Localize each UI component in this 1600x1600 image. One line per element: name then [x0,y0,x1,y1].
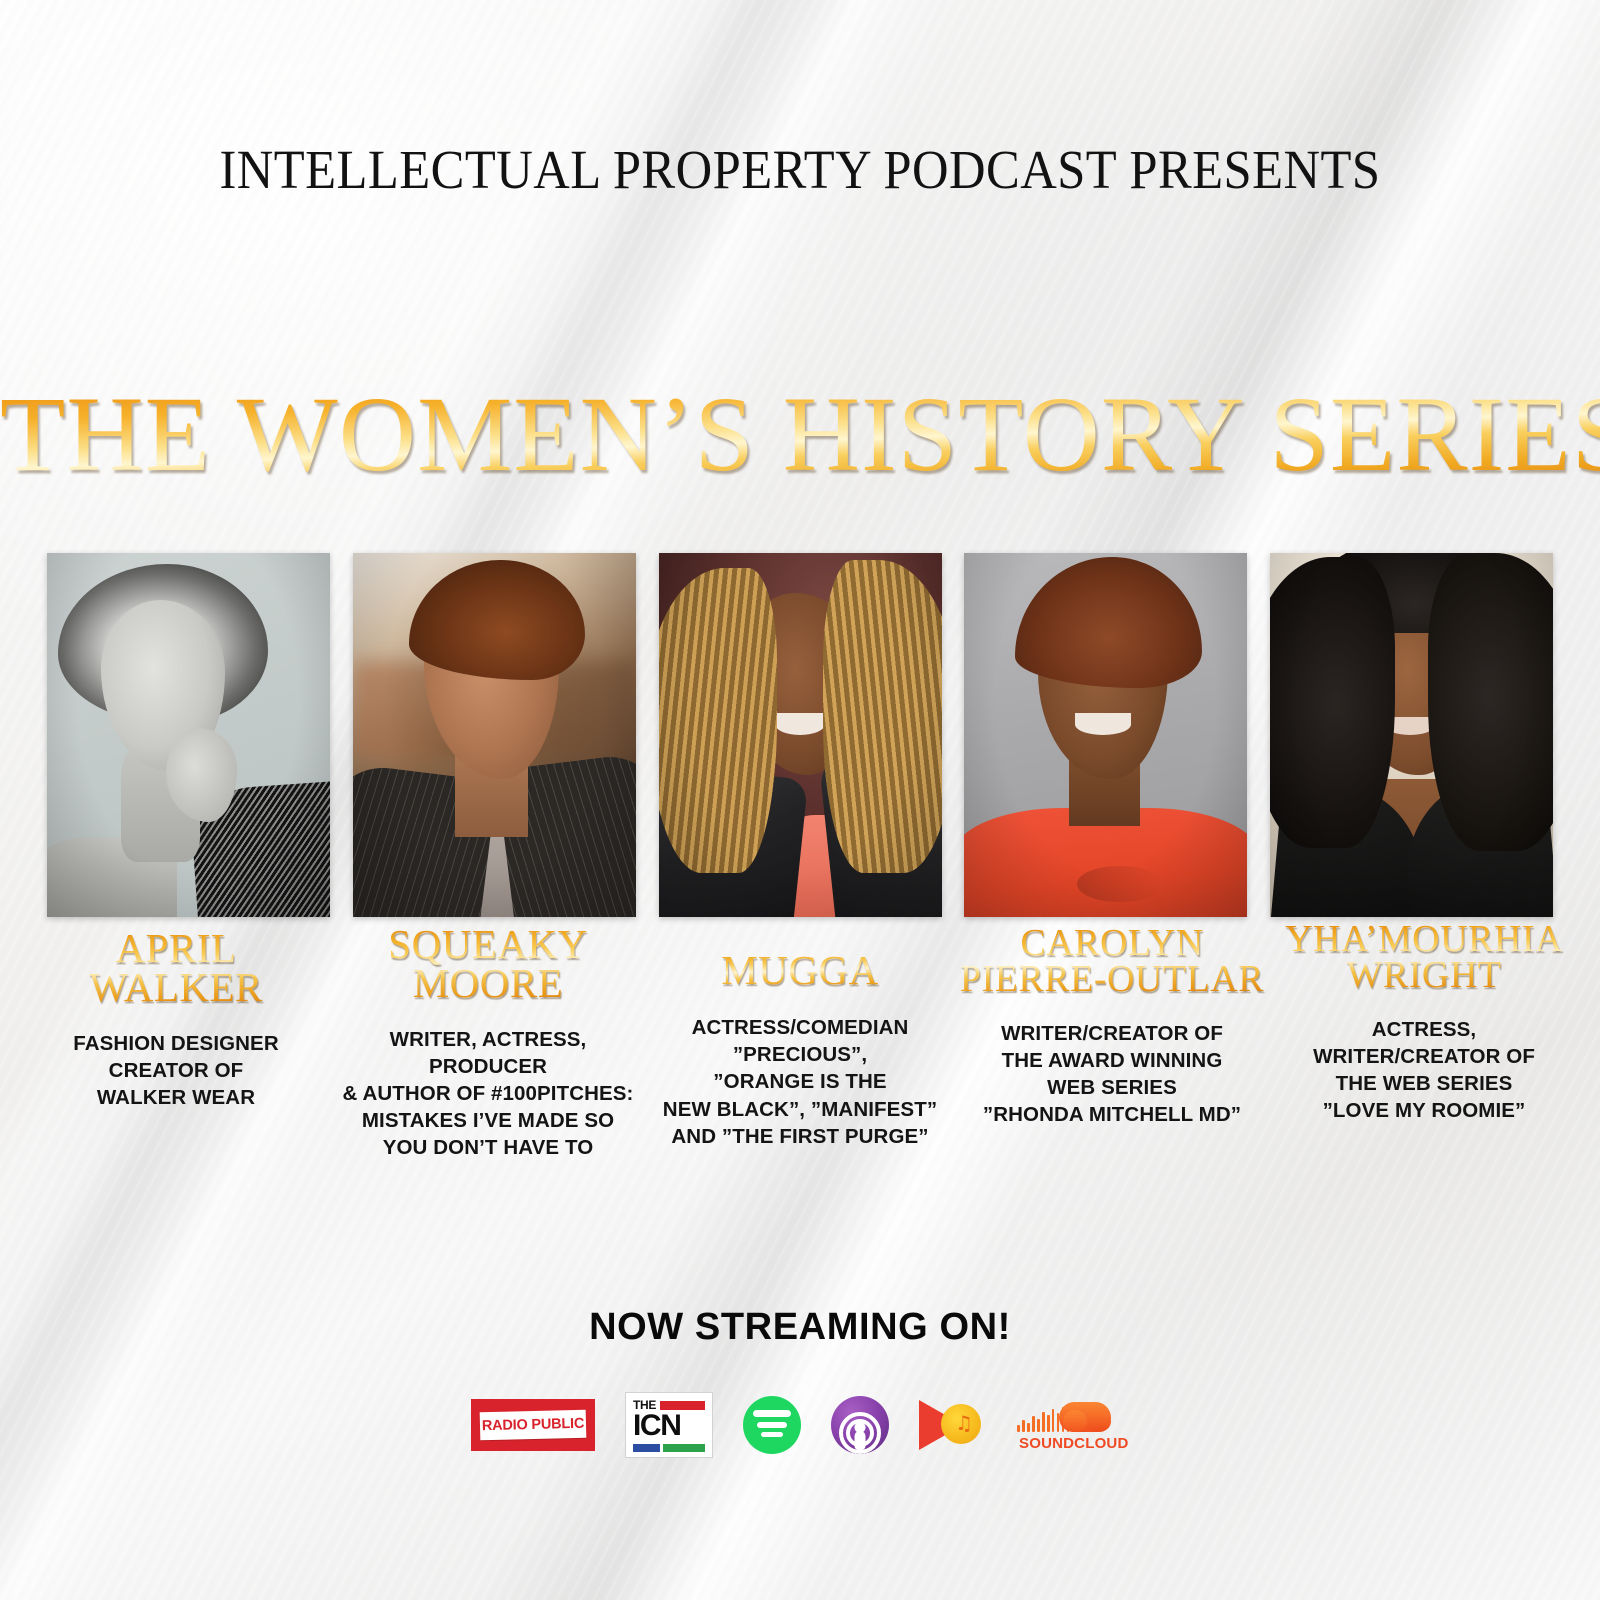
icn-wordmark: ICN [633,1412,705,1441]
spotify-wave-1 [753,1410,791,1417]
radiopublic-icon[interactable]: RADIO PUBLIC [471,1399,595,1451]
guest-bio: ACTRESS/COMEDIAN ”PRECIOUS”, ”ORANGE IS … [644,1014,956,1149]
now-streaming-label: NOW STREAMING ON! [0,1306,1600,1349]
guest-name: MUGGA [644,951,956,990]
icn-blue-bar [633,1444,660,1452]
guest-photo-carolyn-pierre-outlar [964,553,1247,917]
poster-canvas: INTELLECTUAL PROPERTY PODCAST PRESENTS T… [0,0,1600,1600]
icn-bottom-bars [633,1444,705,1452]
guest-photo-row [47,553,1553,917]
guest-credit-squeaky-moore: SQUEAKY MOORE WRITER, ACTRESS, PRODUCER … [332,925,644,1161]
music-note-icon: ♫ [955,1413,973,1433]
guest-photo-squeaky-moore [353,553,636,917]
radiopublic-label: RADIO PUBLIC [482,1416,585,1434]
guest-name: APRIL WALKER [20,929,332,1008]
guest-photo-mugga [659,553,942,917]
icn-icon[interactable]: THE ICN [625,1392,713,1458]
photo-vignette [47,553,330,917]
spotify-icon[interactable] [743,1396,801,1454]
page-title: THE WOMEN’S HISTORY SERIES [0,374,1600,497]
soundcloud-cloud [1059,1402,1111,1432]
guest-credit-yhamourhia-wright: YHA’MOURHIA WRIGHT ACTRESS, WRITER/CREAT… [1268,925,1580,1124]
guest-name: CAROLYN PIERRE-OUTLAR [956,925,1268,998]
guest-bio: WRITER/CREATOR OF THE AWARD WINNING WEB … [956,1020,1268,1128]
guest-photo-yhamourhia-wright [1270,553,1553,917]
guest-photo-april-walker [47,553,330,917]
guest-credit-mugga: MUGGA ACTRESS/COMEDIAN ”PRECIOUS”, ”ORAN… [644,925,956,1150]
google-play-music-icon[interactable]: ♫ [919,1396,981,1454]
page-kicker: INTELLECTUAL PROPERTY PODCAST PRESENTS [64,138,1536,201]
guest-credit-carolyn-pierre-outlar: CAROLYN PIERRE-OUTLAR WRITER/CREATOR OF … [956,925,1268,1128]
soundcloud-icon[interactable]: SOUNDCLOUD [1011,1394,1129,1456]
streaming-platform-logos: RADIO PUBLIC THE ICN [0,1392,1600,1458]
apple-mic-body [855,1431,866,1450]
apple-podcasts-icon[interactable] [831,1396,889,1454]
photo-vignette [964,553,1247,917]
photo-vignette [1270,553,1553,917]
radiopublic-banner: RADIO PUBLIC [480,1410,587,1441]
guest-name: YHA’MOURHIA WRIGHT [1268,921,1580,994]
spotify-wave-2 [757,1422,787,1428]
spotify-wave-3 [761,1432,783,1437]
icn-green-bar [663,1444,705,1452]
photo-vignette [353,553,636,917]
guest-bio: ACTRESS, WRITER/CREATOR OF THE WEB SERIE… [1268,1016,1580,1124]
soundcloud-label: SOUNDCLOUD [1019,1435,1123,1452]
guest-bio: WRITER, ACTRESS, PRODUCER & AUTHOR OF #1… [332,1026,644,1161]
guest-bio: FASHION DESIGNER CREATOR OF WALKER WEAR [20,1030,332,1111]
guest-name: SQUEAKY MOORE [332,925,644,1004]
photo-vignette [659,553,942,917]
guest-credits-row: APRIL WALKER FASHION DESIGNER CREATOR OF… [20,925,1580,1161]
guest-credit-april-walker: APRIL WALKER FASHION DESIGNER CREATOR OF… [20,925,332,1111]
